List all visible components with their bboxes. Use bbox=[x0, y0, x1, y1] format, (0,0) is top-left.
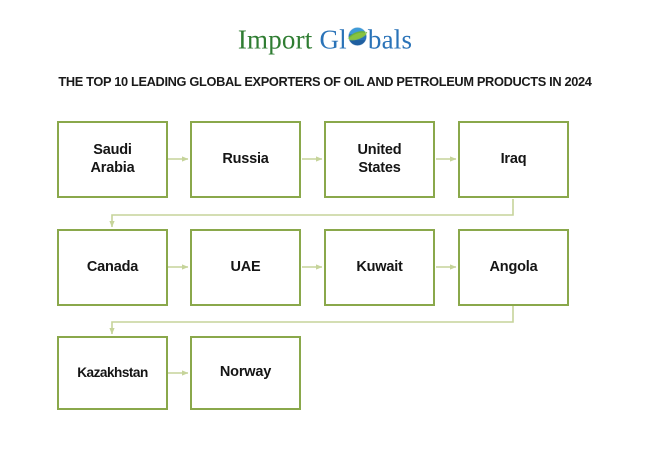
node-iraq[interactable]: Iraq bbox=[458, 121, 569, 198]
node-label: Iraq bbox=[501, 151, 527, 168]
node-label: Saudi Arabia bbox=[91, 142, 135, 176]
node-label: Kazakhstan bbox=[77, 365, 148, 381]
node-kazakhstan[interactable]: Kazakhstan bbox=[57, 336, 168, 410]
node-russia[interactable]: Russia bbox=[190, 121, 301, 198]
node-norway[interactable]: Norway bbox=[190, 336, 301, 410]
node-label: United States bbox=[358, 142, 402, 176]
node-kuwait[interactable]: Kuwait bbox=[324, 229, 435, 306]
node-angola[interactable]: Angola bbox=[458, 229, 569, 306]
node-label: Kuwait bbox=[356, 259, 402, 276]
connector-iraq-to-canada bbox=[112, 199, 513, 227]
node-label: Russia bbox=[222, 151, 268, 168]
connector-angola-to-kazakhstan bbox=[112, 306, 513, 334]
node-uae[interactable]: UAE bbox=[190, 229, 301, 306]
node-united-states[interactable]: United States bbox=[324, 121, 435, 198]
node-label: Canada bbox=[87, 259, 138, 276]
node-canada[interactable]: Canada bbox=[57, 229, 168, 306]
flowchart: Saudi Arabia Russia United States Iraq C… bbox=[0, 0, 650, 450]
infographic-canvas: Import Gl bals THE TOP 10 LEADING GLOBAL… bbox=[0, 0, 650, 450]
node-label: Norway bbox=[220, 364, 271, 381]
node-label: UAE bbox=[230, 259, 260, 276]
node-label: Angola bbox=[490, 259, 538, 276]
node-saudi-arabia[interactable]: Saudi Arabia bbox=[57, 121, 168, 198]
